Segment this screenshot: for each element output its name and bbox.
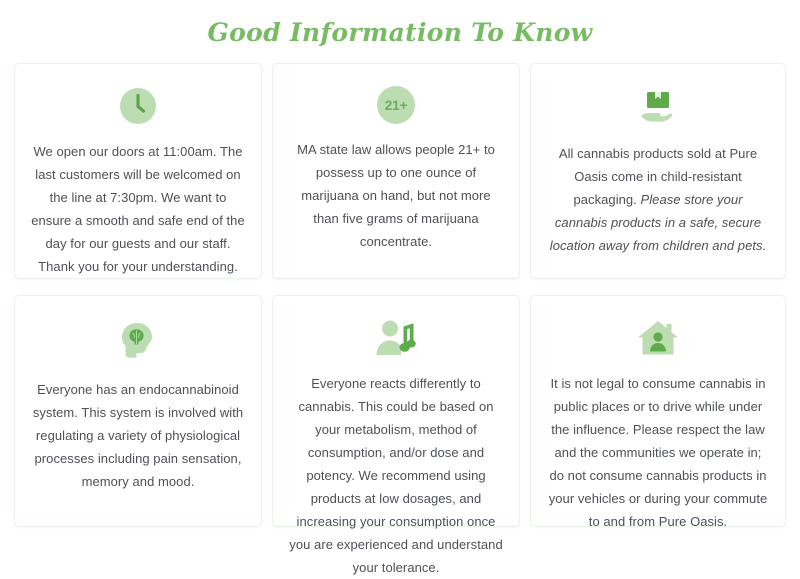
- info-card-reactions: Everyone reacts differently to cannabis.…: [272, 295, 520, 527]
- info-card-public-consumption: It is not legal to consume cannabis in p…: [530, 295, 786, 527]
- person-music-note-icon: [373, 318, 419, 358]
- info-card-text: MA state law allows people 21+ to posses…: [289, 138, 503, 253]
- head-brain-icon: [115, 318, 161, 364]
- age-21-plus-label: 21+: [377, 86, 415, 124]
- info-card-packaging: All cannabis products sold at Pure Oasis…: [530, 63, 786, 279]
- info-card-text: It is not legal to consume cannabis in p…: [547, 372, 769, 533]
- clock-icon: [115, 86, 161, 126]
- info-card-text: Everyone has an endocannabinoid system. …: [31, 378, 245, 493]
- info-card-text: Everyone reacts differently to cannabis.…: [289, 372, 503, 579]
- age-21-plus-icon: 21+: [373, 86, 419, 124]
- info-card-grid: We open our doors at 11:00am. The last c…: [14, 48, 786, 527]
- info-card-endocannabinoid: Everyone has an endocannabinoid system. …: [14, 295, 262, 527]
- house-person-icon: [635, 318, 681, 358]
- page-title: Good Information To Know: [0, 0, 800, 48]
- info-card-text: We open our doors at 11:00am. The last c…: [31, 140, 245, 278]
- package-in-hand-icon: [635, 86, 681, 128]
- info-card-hours: We open our doors at 11:00am. The last c…: [14, 63, 262, 279]
- good-information-section: Good Information To Know We open our doo…: [0, 0, 800, 544]
- info-card-text: All cannabis products sold at Pure Oasis…: [547, 142, 769, 257]
- info-card-age-limit: 21+ MA state law allows people 21+ to po…: [272, 63, 520, 279]
